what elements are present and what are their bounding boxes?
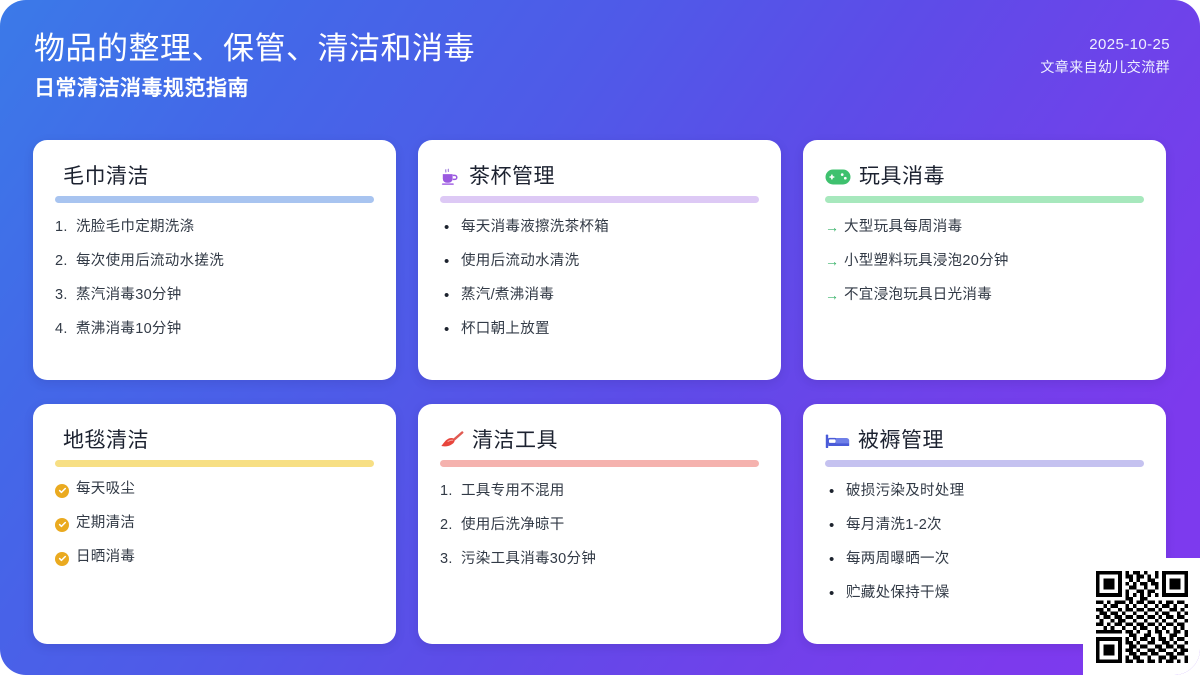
list-item: 2. 使用后洗净晾干 [440,515,759,536]
list-marker: 1. [440,481,461,502]
list-item: • 使用后流动水清洗 [440,251,759,272]
card-grid: 毛巾清洁 1. 洗脸毛巾定期洗涤 2. 每次使用后流动水搓洗 3. 蒸汽消毒30… [33,140,1167,644]
list-item: 每天吸尘 [55,479,374,500]
card-header: 毛巾清洁 [55,162,374,192]
card-accent-rule [825,196,1144,203]
card-title: 清洁工具 [472,426,558,456]
list-marker: 1. [55,217,76,238]
page-subtitle: 日常清洁消毒规范指南 [34,74,475,104]
list-item-text: 洗脸毛巾定期洗涤 [76,217,374,238]
list-item: • 杯口朝上放置 [440,319,759,340]
card-accent-rule [440,460,759,467]
check-icon [55,484,69,498]
card-cleaning-tools[interactable]: 清洁工具 1. 工具专用不混用 2. 使用后洗净晾干 3. 污染工具消毒30分钟 [418,404,781,644]
list-item-text: 每月清洗1-2次 [846,515,1144,536]
list-marker-check [55,481,76,502]
list-marker-check [55,515,76,536]
card-list: 每天吸尘 定期清洁 [55,479,374,568]
card-title: 茶杯管理 [469,162,555,192]
list-item-text: 小型塑料玩具浸泡20分钟 [844,251,1144,272]
poster-header: 物品的整理、保管、清洁和消毒 日常清洁消毒规范指南 2025-10-25 文章来… [0,0,1200,125]
list-marker: 3. [440,549,461,570]
list-item-text: 蒸汽/煮沸消毒 [461,285,759,306]
list-item: 1. 工具专用不混用 [440,481,759,502]
qr-code-icon [1096,571,1188,663]
list-item: → 小型塑料玩具浸泡20分钟 [825,251,1144,272]
list-marker: → [825,285,844,306]
tea-cup-icon [440,167,461,188]
list-item-text: 每天消毒液擦洗茶杯箱 [461,217,759,238]
list-marker: • [825,583,846,604]
check-icon [55,518,69,532]
card-header: 清洁工具 [440,426,759,456]
card-list: 1. 工具专用不混用 2. 使用后洗净晾干 3. 污染工具消毒30分钟 [440,481,759,570]
list-item-text: 蒸汽消毒30分钟 [76,285,374,306]
list-item-text: 大型玩具每周消毒 [844,217,1144,238]
list-item: 3. 污染工具消毒30分钟 [440,549,759,570]
card-accent-rule [55,196,374,203]
list-item: → 不宜浸泡玩具日光消毒 [825,285,1144,306]
card-accent-rule [440,196,759,203]
list-marker: • [440,319,461,340]
header-left: 物品的整理、保管、清洁和消毒 日常清洁消毒规范指南 [34,22,475,104]
list-marker: 2. [440,515,461,536]
list-item-text: 定期清洁 [76,513,374,534]
list-item: 日晒消毒 [55,547,374,568]
broom-icon [440,431,464,451]
list-marker: 2. [55,251,76,272]
card-toy-disinfection[interactable]: 玩具消毒 → 大型玩具每周消毒 → 小型塑料玩具浸泡20分钟 → 不宜浸泡玩具日… [803,140,1166,380]
publish-date: 2025-10-25 [1040,34,1170,55]
card-header: 茶杯管理 [440,162,759,192]
card-header: 被褥管理 [825,426,1144,456]
list-marker: • [825,549,846,570]
check-icon [55,552,69,566]
list-marker: • [825,481,846,502]
poster-root: 物品的整理、保管、清洁和消毒 日常清洁消毒规范指南 2025-10-25 文章来… [0,0,1200,675]
page-title: 物品的整理、保管、清洁和消毒 [34,28,475,70]
list-marker: • [440,217,461,238]
list-marker: • [825,515,846,536]
list-marker: 4. [55,319,76,340]
list-item-text: 每天吸尘 [76,479,374,500]
card-towel-cleaning[interactable]: 毛巾清洁 1. 洗脸毛巾定期洗涤 2. 每次使用后流动水搓洗 3. 蒸汽消毒30… [33,140,396,380]
bed-icon [825,432,850,450]
list-marker: 3. [55,285,76,306]
list-item-text: 使用后洗净晾干 [461,515,759,536]
card-list: • 每天消毒液擦洗茶杯箱 • 使用后流动水清洗 • 蒸汽/煮沸消毒 • 杯口朝上… [440,217,759,340]
list-marker: → [825,217,844,238]
card-header: 玩具消毒 [825,162,1144,192]
header-right: 2025-10-25 文章来自幼儿交流群 [1040,22,1170,78]
list-item: 2. 每次使用后流动水搓洗 [55,251,374,272]
source-label: 文章来自幼儿交流群 [1040,57,1170,78]
list-item: • 每月清洗1-2次 [825,515,1144,536]
list-marker-check [55,549,76,570]
list-item-text: 破损污染及时处理 [846,481,1144,502]
card-title: 被褥管理 [858,426,944,456]
list-marker: → [825,251,844,272]
list-item: • 破损污染及时处理 [825,481,1144,502]
list-item: 3. 蒸汽消毒30分钟 [55,285,374,306]
card-accent-rule [825,460,1144,467]
list-item: 1. 洗脸毛巾定期洗涤 [55,217,374,238]
list-item: 定期清洁 [55,513,374,534]
list-item: → 大型玩具每周消毒 [825,217,1144,238]
list-item: • 每天消毒液擦洗茶杯箱 [440,217,759,238]
card-carpet-cleaning[interactable]: 地毯清洁 每天吸尘 [33,404,396,644]
card-cup-management[interactable]: 茶杯管理 • 每天消毒液擦洗茶杯箱 • 使用后流动水清洗 • 蒸汽/煮沸消毒 • [418,140,781,380]
list-item-text: 杯口朝上放置 [461,319,759,340]
list-item-text: 煮沸消毒10分钟 [76,319,374,340]
list-marker: • [440,251,461,272]
game-controller-icon [825,168,851,186]
card-title: 毛巾清洁 [63,162,149,192]
card-list: → 大型玩具每周消毒 → 小型塑料玩具浸泡20分钟 → 不宜浸泡玩具日光消毒 [825,217,1144,306]
card-title: 地毯清洁 [63,426,149,456]
card-header: 地毯清洁 [55,426,374,456]
list-item-text: 污染工具消毒30分钟 [461,549,759,570]
list-item-text: 使用后流动水清洗 [461,251,759,272]
list-item: 4. 煮沸消毒10分钟 [55,319,374,340]
card-accent-rule [55,460,374,467]
list-item-text: 每次使用后流动水搓洗 [76,251,374,272]
qr-code-panel[interactable] [1083,558,1200,675]
list-marker: • [440,285,461,306]
card-list: 1. 洗脸毛巾定期洗涤 2. 每次使用后流动水搓洗 3. 蒸汽消毒30分钟 4.… [55,217,374,340]
list-item: • 蒸汽/煮沸消毒 [440,285,759,306]
list-item-text: 日晒消毒 [76,547,374,568]
card-title: 玩具消毒 [859,162,945,192]
list-item-text: 不宜浸泡玩具日光消毒 [844,285,1144,306]
list-item-text: 工具专用不混用 [461,481,759,502]
